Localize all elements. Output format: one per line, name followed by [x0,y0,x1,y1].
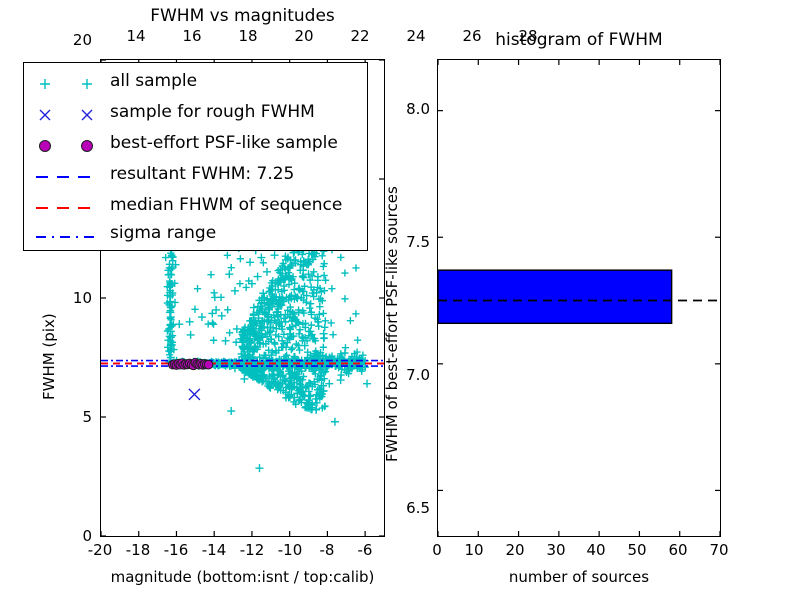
legend-item-median-fwhm[interactable]: median FHWM of sequence [24,193,367,224]
legend-item-psf-sample[interactable]: best-effort PSF-like sample [24,131,367,162]
all-sample-points [162,222,371,472]
legend-item-resultant-fwhm[interactable]: resultant FWHM: 7.25 [24,162,367,193]
legend-label-resultant-fwhm: resultant FWHM: 7.25 [110,164,294,184]
legend-label-rough-sample: sample for rough FWHM [110,102,315,122]
legend-label-psf-sample: best-effort PSF-like sample [110,133,338,153]
legend-item-sigma-range[interactable]: sigma range [24,221,367,252]
legend-label-sigma-range: sigma range [110,223,216,243]
legend-label-median-fwhm: median FHWM of sequence [110,195,342,215]
figure-canvas: FWHM vs magnitudes 14 16 18 20 22 24 26 … [0,0,800,600]
legend-label-all-sample: all sample [110,71,197,91]
psf-sample-points [168,358,212,369]
legend-item-all-sample[interactable]: all sample [24,69,367,100]
legend-item-rough-sample[interactable]: sample for rough FWHM [24,100,367,131]
histogram-bars [438,270,672,323]
rough-sample-points [189,389,200,400]
plot-legend[interactable]: all sample sample for rough FWHM best-ef… [23,62,368,251]
